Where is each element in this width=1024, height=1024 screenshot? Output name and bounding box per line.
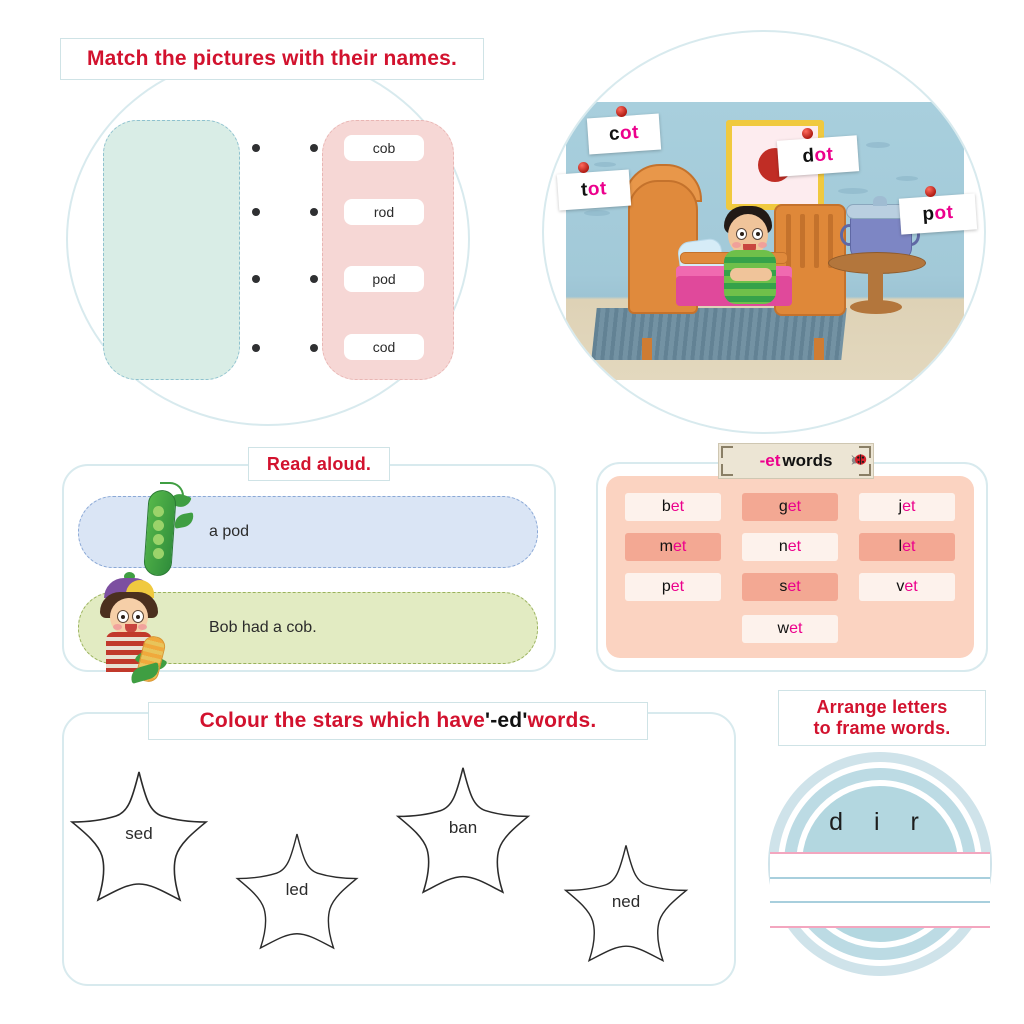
heading-match: Match the pictures with their names. (60, 38, 484, 80)
match-dot-right-4[interactable] (310, 344, 318, 352)
match-dot-right-2[interactable] (310, 208, 318, 216)
scene-label-tot[interactable]: tot (557, 170, 631, 211)
et-cell-met[interactable]: met (625, 533, 721, 561)
writing-lines[interactable] (770, 852, 990, 928)
pushpin-dot (802, 128, 813, 139)
pushpin-tot (578, 162, 589, 173)
et-cell-met-rest: et (673, 538, 686, 556)
heading-stars-part1: Colour the stars which have (200, 709, 485, 733)
scene-label-tot-rest: ot (587, 178, 607, 201)
et-cell-pet-rest: et (671, 578, 684, 596)
et-cell-vet-rest: et (904, 578, 917, 596)
match-dot-left-4[interactable] (252, 344, 260, 352)
star-label-led: led (232, 880, 362, 900)
match-dot-left-1[interactable] (252, 144, 260, 152)
star-ned[interactable]: ned (560, 840, 692, 966)
match-dot-left-2[interactable] (252, 208, 260, 216)
et-cell-get-first: g (779, 498, 788, 516)
et-cell-set-rest: et (787, 578, 800, 596)
scene-label-pot-rest: ot (934, 202, 954, 225)
scene-label-pot[interactable]: pot (899, 193, 977, 234)
heading-arrange-line2: to frame words. (813, 718, 950, 739)
star-label-ban: ban (392, 818, 534, 838)
star-sed[interactable]: sed (66, 766, 212, 906)
word-card-cod[interactable]: cod (344, 334, 424, 360)
scene-label-dot[interactable]: dot (777, 135, 859, 176)
et-cell-net-rest: et (788, 538, 801, 556)
et-title-rest: words (782, 451, 832, 471)
heading-arrange-line1: Arrange letters (816, 697, 947, 718)
et-cell-let-rest: et (902, 538, 915, 556)
word-card-cob[interactable]: cob (344, 135, 424, 161)
star-led[interactable]: led (232, 828, 362, 954)
et-cell-pet[interactable]: pet (625, 573, 721, 601)
boy-with-corn-illustration (96, 578, 176, 678)
writing-line-mid-1 (770, 877, 990, 879)
scene-label-dot-rest: ot (814, 144, 834, 167)
et-cell-vet-first: v (896, 578, 904, 596)
heading-arrange: Arrange letters to frame words. (778, 690, 986, 746)
et-cell-pet-first: p (662, 578, 671, 596)
et-cell-let[interactable]: let (859, 533, 955, 561)
et-cell-get[interactable]: get (742, 493, 838, 521)
et-cell-net[interactable]: net (742, 533, 838, 561)
heading-stars: Colour the stars which have '-ed' words. (148, 702, 648, 740)
et-cell-wet-rest: et (789, 620, 802, 638)
et-cell-bet-rest: et (671, 498, 684, 516)
et-cell-set[interactable]: set (742, 573, 838, 601)
et-words-title: -et words (718, 443, 874, 479)
star-label-sed: sed (66, 824, 212, 844)
et-cell-get-rest: et (788, 498, 801, 516)
et-title-prefix: -et (760, 451, 781, 471)
side-table (828, 230, 924, 320)
et-cell-set-first: s (779, 578, 787, 596)
match-dot-right-3[interactable] (310, 275, 318, 283)
arrange-letters-circle: d i r (768, 752, 992, 976)
et-cell-wet[interactable]: wet (742, 615, 838, 643)
pea-pod-illustration (132, 484, 194, 580)
read-aloud-text-2: Bob had a cob. (209, 619, 317, 637)
match-dot-left-3[interactable] (252, 275, 260, 283)
star-ban[interactable]: ban (392, 762, 534, 898)
et-cell-bet[interactable]: bet (625, 493, 721, 521)
star-label-ned: ned (560, 892, 692, 912)
et-cell-vet[interactable]: vet (859, 573, 955, 601)
et-cell-wet-first: w (778, 620, 790, 638)
heading-stars-part2: words. (528, 709, 597, 733)
ladybug-icon (851, 453, 867, 466)
et-cell-jet-rest: et (902, 498, 915, 516)
scene-label-cot-rest: ot (619, 122, 639, 145)
word-card-pod[interactable]: pod (344, 266, 424, 292)
et-cell-jet[interactable]: jet (859, 493, 955, 521)
worksheet-page: Match the pictures with their names. (0, 0, 1024, 1024)
picture-column (103, 120, 240, 380)
word-card-rod[interactable]: rod (344, 199, 424, 225)
heading-read-aloud: Read aloud. (248, 447, 390, 481)
et-cell-met-first: m (660, 538, 673, 556)
pushpin-cot (616, 106, 627, 117)
writing-line-mid-2 (770, 901, 990, 903)
heading-stars-highlight: '-ed' (485, 709, 528, 733)
match-dot-right-1[interactable] (310, 144, 318, 152)
read-aloud-text-1: a pod (209, 523, 249, 541)
et-cell-bet-first: b (662, 498, 671, 516)
arrange-letters[interactable]: d i r (768, 808, 992, 837)
et-cell-net-first: n (779, 538, 788, 556)
pushpin-pot (925, 186, 936, 197)
scene-label-cot[interactable]: cot (587, 114, 661, 155)
